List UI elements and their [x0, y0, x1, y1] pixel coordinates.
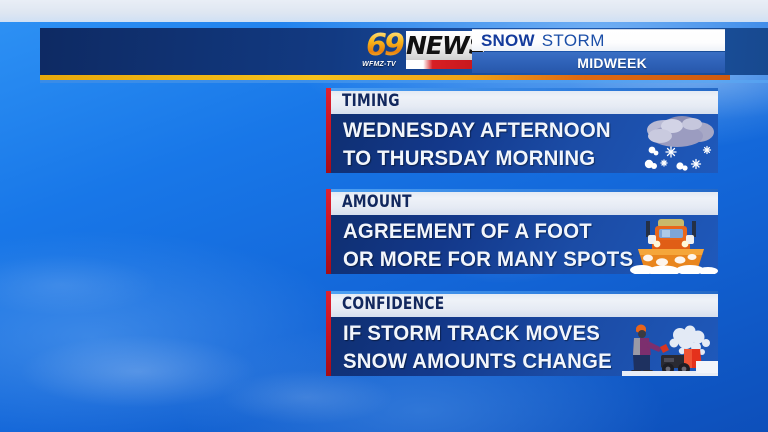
top-left-band	[0, 0, 40, 22]
subheadline-plate: MIDWEEK	[472, 52, 725, 73]
panel-line-2: OR MORE FOR MANY SPOTS	[343, 246, 633, 273]
panel-body: AGREEMENT OF A FOOT OR MORE FOR MANY SPO…	[331, 215, 718, 274]
panel-line-1: WEDNESDAY AFTERNOON	[343, 117, 611, 144]
panel-title-confidence: CONFIDENCE	[342, 294, 444, 314]
top-light-band	[0, 0, 768, 22]
headline-plate: SNOW STORM	[472, 29, 725, 51]
logo-number: 69	[354, 30, 414, 60]
panel-line-1: AGREEMENT OF A FOOT	[343, 218, 633, 245]
banner-blue-underline	[40, 80, 768, 83]
panel-header: TIMING	[331, 88, 718, 114]
panel-title-amount: AMOUNT	[342, 192, 412, 212]
subheadline-text: MIDWEEK	[577, 55, 647, 71]
panel-text-block: WEDNESDAY AFTERNOON TO THURSDAY MORNING	[343, 117, 619, 172]
logo-callsign: WFMZ-TV	[352, 60, 406, 70]
panel-line-2: SNOW AMOUNTS CHANGE	[343, 348, 612, 375]
headline-light: STORM	[542, 31, 605, 51]
panel-header: AMOUNT	[331, 189, 718, 215]
panel-top-sheen	[331, 291, 718, 294]
panel-amount: AMOUNT AGREEMENT OF A FOOT OR MORE FOR M…	[326, 189, 718, 274]
panel-header: CONFIDENCE	[331, 291, 718, 317]
snow-cloud-icon	[622, 114, 718, 173]
headline-strong: SNOW	[481, 31, 535, 51]
panel-line-1: IF STORM TRACK MOVES	[343, 320, 612, 347]
station-logo: 69 NEWS WFMZ-TV	[352, 30, 484, 73]
snowblower-person-icon	[622, 317, 718, 376]
snowplow-truck-icon	[622, 215, 718, 274]
panel-title-timing: TIMING	[342, 91, 400, 111]
header-banner: 69 NEWS WFMZ-TV SNOW STORM MIDWEEK	[40, 28, 768, 75]
panel-text-block: IF STORM TRACK MOVES SNOW AMOUNTS CHANGE	[343, 320, 620, 375]
panel-top-sheen	[331, 189, 718, 192]
panel-top-sheen	[331, 88, 718, 91]
panel-body: WEDNESDAY AFTERNOON TO THURSDAY MORNING	[331, 114, 718, 173]
panel-body: IF STORM TRACK MOVES SNOW AMOUNTS CHANGE	[331, 317, 718, 376]
panel-text-block: AGREEMENT OF A FOOT OR MORE FOR MANY SPO…	[343, 218, 642, 273]
panel-line-2: TO THURSDAY MORNING	[343, 145, 611, 172]
panel-confidence: CONFIDENCE IF STORM TRACK MOVES SNOW AMO…	[326, 291, 718, 376]
panel-timing: TIMING WEDNESDAY AFTERNOON TO THURSDAY M…	[326, 88, 718, 173]
